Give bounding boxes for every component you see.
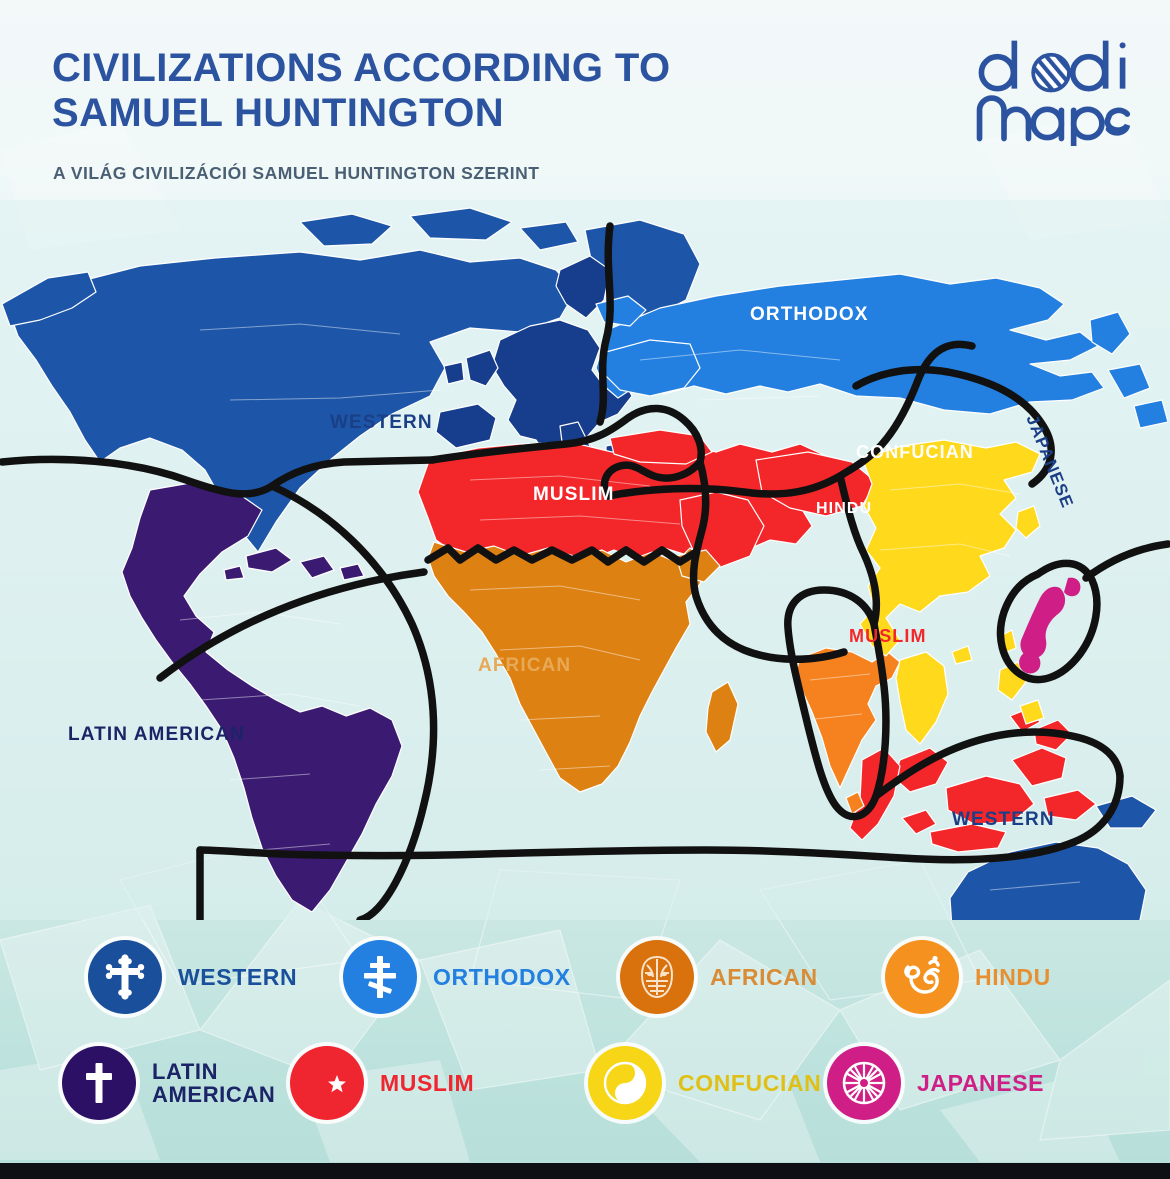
- budded-cross-icon: [88, 940, 162, 1014]
- bottom-bar: [0, 1163, 1170, 1179]
- legend-label-western: WESTERN: [178, 965, 297, 989]
- page-title: CIVILIZATIONS ACCORDING TO SAMUEL HUNTIN…: [52, 46, 792, 136]
- legend-item-western[interactable]: WESTERN: [88, 940, 297, 1014]
- legend-item-hindu[interactable]: HINDU: [885, 940, 1051, 1014]
- legend-label-confucian: CONFUCIAN: [678, 1071, 821, 1095]
- legend-label-muslim: MUSLIM: [380, 1071, 474, 1095]
- tribal-mask-icon: [620, 940, 694, 1014]
- legend-item-orthodox[interactable]: ORTHODOX: [343, 940, 571, 1014]
- legend-item-latin-american[interactable]: LATIN AMERICAN: [62, 1046, 275, 1120]
- legend-label-latin-american: LATIN AMERICAN: [152, 1060, 275, 1107]
- legend-row-2: LATIN AMERICAN MUSLIM: [0, 1038, 1170, 1138]
- page-subtitle: A VILÁG CIVILIZÁCIÓI SAMUEL HUNTINGTON S…: [53, 163, 813, 184]
- legend-item-confucian[interactable]: CONFUCIAN: [588, 1046, 821, 1120]
- latin-cross-icon: [62, 1046, 136, 1120]
- legend-label-african: AFRICAN: [710, 965, 818, 989]
- crescent-star-icon: [290, 1046, 364, 1120]
- world-map[interactable]: WESTERN ORTHODOX MUSLIM CONFUCIAN HINDU …: [0, 200, 1170, 920]
- legend-item-japanese[interactable]: JAPANESE: [827, 1046, 1044, 1120]
- chrysanthemum-icon: [827, 1046, 901, 1120]
- legend-label-hindu: HINDU: [975, 965, 1051, 989]
- legend-label-japanese: JAPANESE: [917, 1071, 1044, 1095]
- legend-item-african[interactable]: AFRICAN: [620, 940, 818, 1014]
- infographic-page: CIVILIZATIONS ACCORDING TO SAMUEL HUNTIN…: [0, 0, 1170, 1179]
- dodi-maps-logo[interactable]: [972, 36, 1132, 146]
- legend-item-muslim[interactable]: MUSLIM: [290, 1046, 474, 1120]
- om-icon: [885, 940, 959, 1014]
- legend-row-1: WESTERN ORTHODOX: [0, 932, 1170, 1032]
- legend-label-orthodox: ORTHODOX: [433, 965, 571, 989]
- legend: WESTERN ORTHODOX: [0, 920, 1170, 1150]
- orthodox-cross-icon: [343, 940, 417, 1014]
- header: CIVILIZATIONS ACCORDING TO SAMUEL HUNTIN…: [0, 0, 1170, 205]
- yin-yang-icon: [588, 1046, 662, 1120]
